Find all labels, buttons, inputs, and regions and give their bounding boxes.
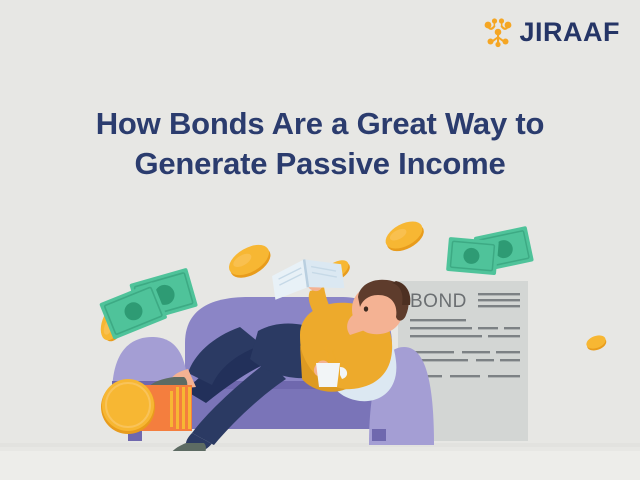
- illustration: BOND: [0, 195, 640, 480]
- book: [270, 254, 344, 299]
- banknotes-left: [99, 268, 198, 340]
- coin-floating-2: [224, 239, 276, 284]
- brand-logo[interactable]: JIRAAF: [483, 16, 620, 48]
- brand-name: JIRAAF: [519, 19, 620, 46]
- coin-floating-1: [381, 216, 428, 257]
- floor: [0, 451, 640, 480]
- banknote-right-2: [446, 237, 499, 275]
- illustration-svg: BOND: [0, 195, 640, 480]
- coin-stack-front-face: [102, 379, 154, 431]
- floor-line: [0, 443, 640, 447]
- page-title: How Bonds Are a Great Way to Generate Pa…: [70, 104, 570, 185]
- person-eye: [364, 306, 368, 311]
- couch-leg-right: [372, 429, 386, 441]
- jiraaf-tree-mark-icon: [483, 16, 513, 48]
- coin-stack: [101, 379, 192, 434]
- page-title-line-2: Generate Passive Income: [70, 144, 570, 184]
- banknotes-right: [446, 226, 534, 275]
- page-title-line-1: How Bonds Are a Great Way to: [70, 104, 570, 144]
- poster-canvas: JIRAAF How Bonds Are a Great Way to Gene…: [0, 0, 640, 480]
- coin-floating-5: [585, 333, 609, 353]
- bond-heading: BOND: [410, 291, 467, 312]
